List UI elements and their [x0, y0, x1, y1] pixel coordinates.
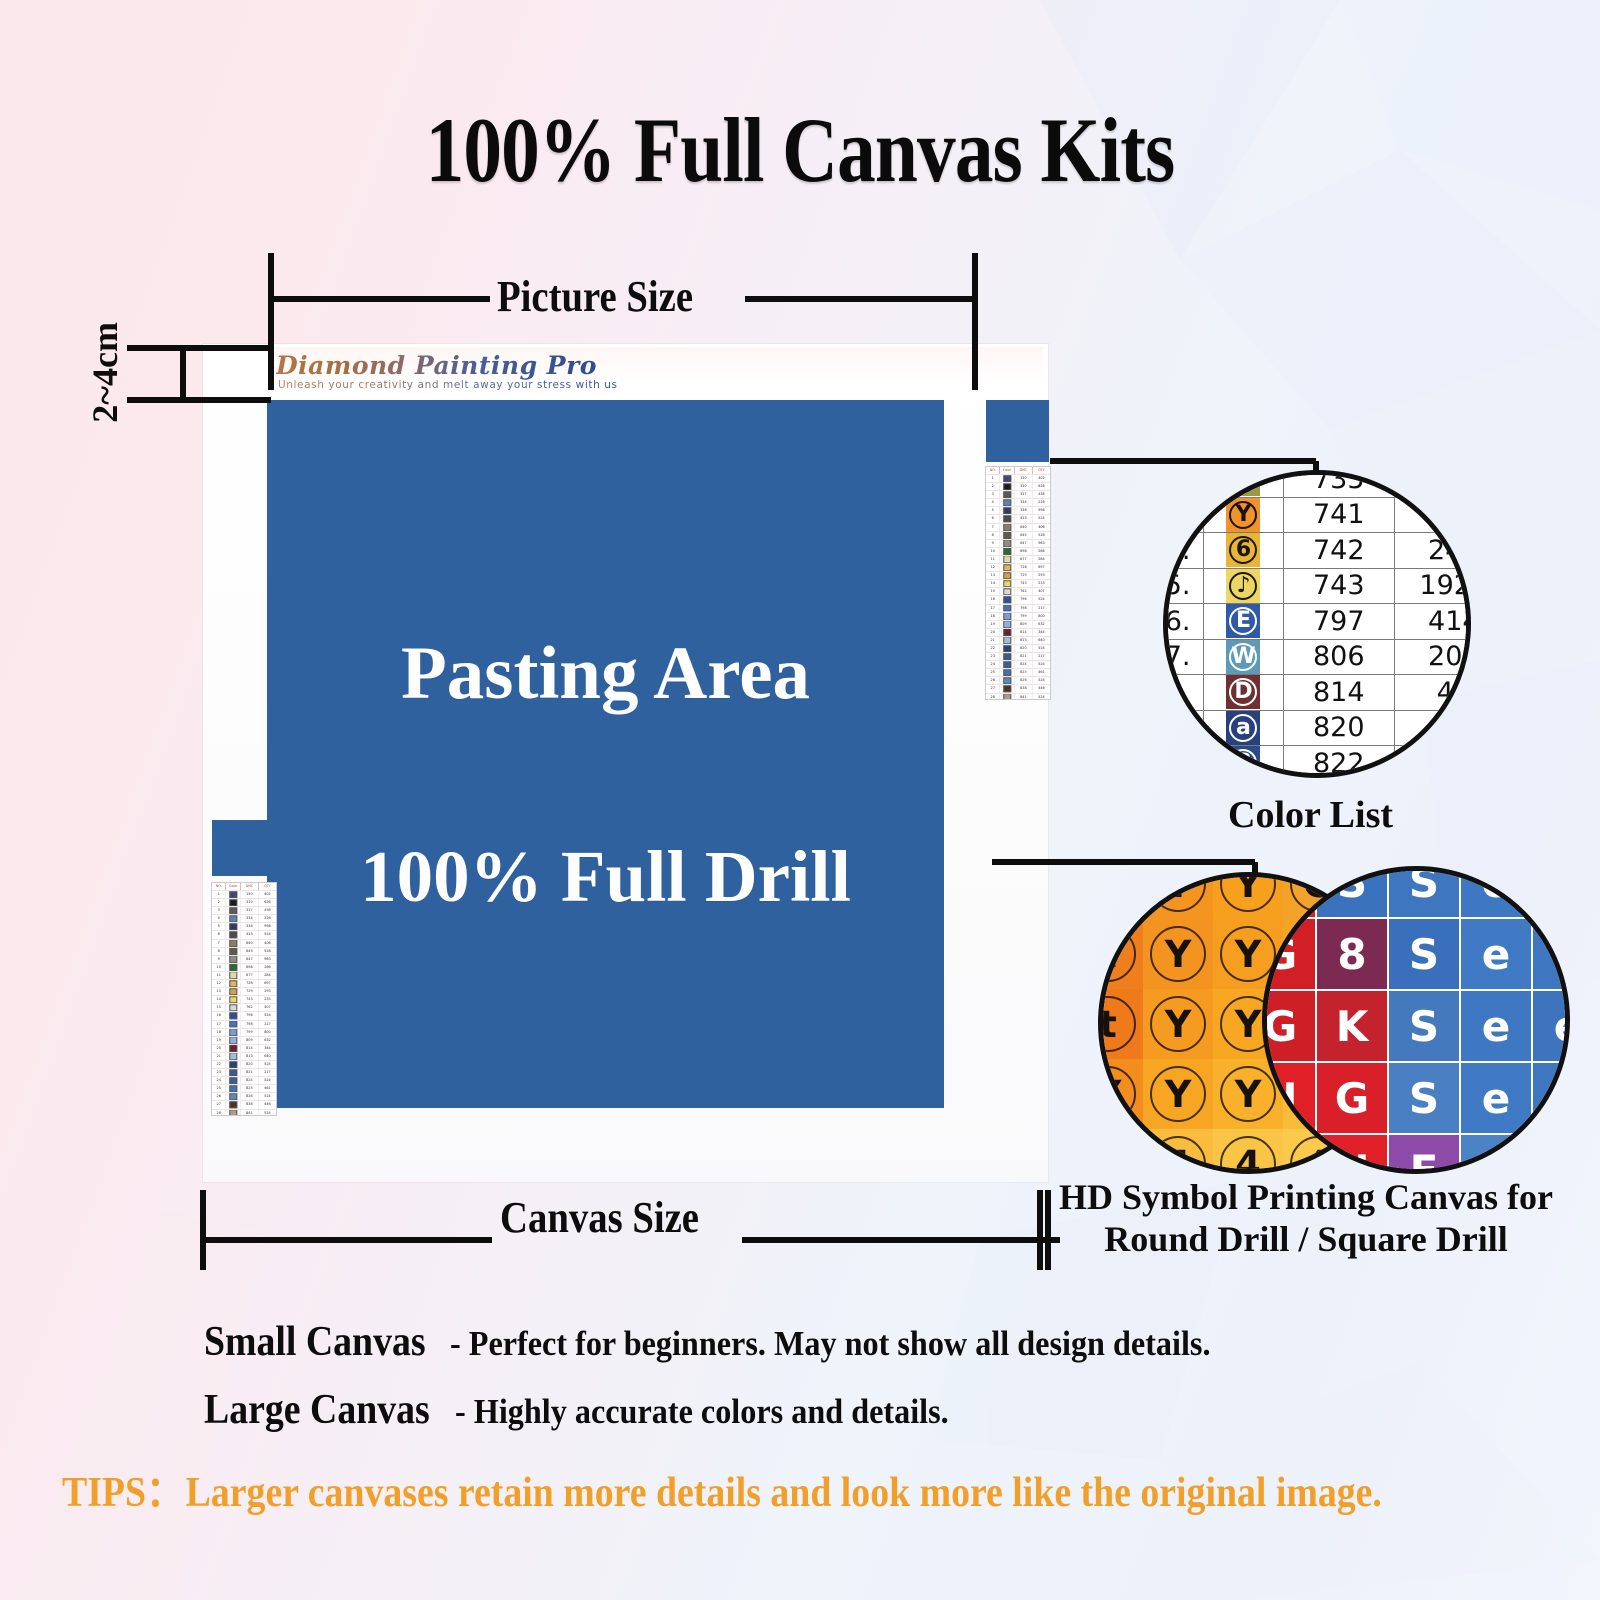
mini-strip-row: 5336998: [986, 506, 1050, 514]
color-list-qty: 414: [1394, 604, 1471, 640]
round-drill-cell: t: [1098, 919, 1143, 989]
round-drill-cell: Y: [1098, 1129, 1143, 1174]
pasting-area-title: Pasting Area: [267, 636, 944, 711]
color-list-row: 15.♪7431921: [1163, 568, 1471, 604]
square-drill-cell: S: [1389, 866, 1459, 917]
color-list-symbol: ♪: [1204, 568, 1284, 604]
mini-strip-row: 27838446: [212, 1100, 276, 1108]
tips-separator: ：: [146, 1470, 186, 1516]
mini-strip-row: 9647963: [212, 955, 276, 963]
square-drill-cell: G: [1262, 866, 1315, 917]
round-drill-cell: Y: [1098, 1059, 1143, 1129]
mini-strip-row: 10698266: [986, 547, 1050, 555]
mini-strip-row: 27838446: [986, 684, 1050, 692]
small-canvas-text: - Perfect for beginners. May not show al…: [450, 1324, 1211, 1364]
color-list-no: 14.: [1163, 533, 1204, 569]
square-drill-cell: N: [1317, 1135, 1387, 1174]
small-canvas-label: Small Canvas: [204, 1318, 426, 1366]
color-list-row: 18.D81440: [1163, 675, 1471, 711]
color-list-no: [1163, 710, 1204, 746]
round-drill-cell: Y: [1143, 989, 1213, 1059]
square-drill-cell: K: [1317, 991, 1387, 1061]
tips-label: TIPS: [62, 1470, 146, 1516]
color-list-code: 743: [1283, 568, 1394, 604]
mini-strip-row: 21813640: [212, 1052, 276, 1060]
color-list-qty: [1394, 470, 1471, 497]
drill-caption-line1: HD Symbol Printing Canvas for: [1046, 1176, 1566, 1218]
large-canvas-label: Large Canvas: [204, 1386, 430, 1434]
brand-logo-band: Diamond Painting Pro Unleash your creati…: [268, 347, 1043, 399]
color-list-code: 742: [1283, 533, 1394, 569]
color-list-code: 797: [1283, 604, 1394, 640]
color-list-qty: 1921: [1394, 568, 1471, 604]
square-drill-cell: S: [1317, 866, 1387, 917]
color-list-table: ★735.Y741114.674224815.♪743192116.E79741…: [1163, 470, 1471, 778]
page-title: 100% Full Canvas Kits: [128, 104, 1472, 196]
color-list-symbol: W: [1204, 639, 1284, 675]
square-drill-cell: S: [1389, 919, 1459, 989]
color-list-symbol: ★: [1204, 470, 1284, 497]
color-list-code: 806: [1283, 639, 1394, 675]
mini-strip-row: 3317436: [212, 906, 276, 914]
square-drill-cell: e: [1461, 866, 1531, 917]
mini-strip-row: 19809632: [212, 1036, 276, 1044]
color-list-qty: 40: [1394, 675, 1471, 711]
mini-strip-row: 7640406: [986, 523, 1050, 531]
square-drill-cell: S: [1461, 1135, 1531, 1174]
canvas-sheet: Diamond Painting Pro Unleash your creati…: [203, 344, 1048, 1182]
color-list-row: ★735: [1163, 470, 1471, 497]
color-list-magnifier: ★735.Y741114.674224815.♪743192116.E79741…: [1163, 470, 1471, 778]
mini-strip-row: 14743233: [986, 579, 1050, 587]
square-drill-cell: e: [1533, 1063, 1570, 1133]
mini-strip-row: 2310626: [212, 898, 276, 906]
mini-strip-row: 1150402: [986, 474, 1050, 482]
round-drill-cell: Y: [1143, 919, 1213, 989]
mini-strip-header: NO.ColorDMCQTY: [212, 883, 276, 890]
mini-strip-row: 1150402: [212, 890, 276, 898]
large-canvas-line: Large Canvas- Highly accurate colors and…: [204, 1386, 991, 1434]
mini-strip-row: 12728697: [212, 979, 276, 987]
color-list-code: 814: [1283, 675, 1394, 711]
large-canvas-text: - Highly accurate colors and details.: [455, 1392, 949, 1432]
mini-strip-row: 25825461: [212, 1084, 276, 1092]
color-list-row: .Y7411: [1163, 497, 1471, 533]
color-list-no: 15.: [1163, 568, 1204, 604]
mini-strip-row: 11677284: [986, 555, 1050, 563]
mini-strip-row: 28841524: [986, 693, 1050, 700]
mini-strip-row: 26826524: [986, 676, 1050, 684]
square-drill-magnifier: GSSeeG8SeeGKSeeNGSeeNNFSSNNKKK: [1262, 866, 1570, 1174]
square-drill-cell: N: [1262, 1135, 1315, 1174]
mini-strip-row: 17798217: [986, 604, 1050, 612]
mini-strip-row: 3317436: [986, 490, 1050, 498]
mini-strip-row: 18799800: [212, 1028, 276, 1036]
color-list-no: 17.: [1163, 639, 1204, 675]
color-list-row: 17.W806204: [1163, 639, 1471, 675]
color-list-symbol: Y: [1204, 497, 1284, 533]
square-drill-cell: e: [1461, 991, 1531, 1061]
round-drill-cell: 4: [1143, 1129, 1213, 1174]
color-list-symbol: 6: [1204, 533, 1284, 569]
mini-strip-row: 14743233: [212, 995, 276, 1003]
canvas-size-label: Canvas Size: [500, 1192, 699, 1243]
mini-strip-row: 23821217: [212, 1068, 276, 1076]
mini-strip-row: 16796524: [986, 595, 1050, 603]
mini-strip-row: 17798217: [212, 1020, 276, 1028]
color-list-row: a820: [1163, 710, 1471, 746]
mini-strip-row: 16796524: [212, 1011, 276, 1019]
mini-strip-row: 12728697: [986, 563, 1050, 571]
color-list-no: 16.: [1163, 604, 1204, 640]
color-list-code: 741: [1283, 497, 1394, 533]
color-list-no: .: [1163, 497, 1204, 533]
brand-logo-tagline: Unleash your creativity and melt away yo…: [278, 379, 618, 391]
square-drill-cell: 8: [1317, 919, 1387, 989]
mini-strip-row: 22820524: [212, 1060, 276, 1068]
mini-strip-row: 23821217: [986, 652, 1050, 660]
mini-strip-row: 28841524: [212, 1109, 276, 1116]
mini-strip-row: 13729293: [212, 987, 276, 995]
drill-preview-caption: HD Symbol Printing Canvas for Round Dril…: [1046, 1176, 1566, 1260]
square-drill-cell: e: [1533, 866, 1570, 917]
square-drill-cell: e: [1533, 991, 1570, 1061]
mini-strip-row: 11677284: [212, 971, 276, 979]
brand-logo-name: Diamond Painting Pro: [276, 351, 597, 380]
mini-strip-row: 6413524: [986, 514, 1050, 522]
color-list-qty: 248: [1394, 533, 1471, 569]
square-drill-cell: e: [1533, 919, 1570, 989]
color-list-row: 14.6742248: [1163, 533, 1471, 569]
mini-strip-row: 19809632: [986, 620, 1050, 628]
blue-accent-square-right: [986, 400, 1049, 462]
tips-line: TIPS：Larger canvases retain more details…: [62, 1458, 1382, 1519]
drill-caption-line2: Round Drill / Square Drill: [1046, 1218, 1566, 1260]
color-list-no: 18.: [1163, 675, 1204, 711]
mini-strip-row: 10698266: [212, 963, 276, 971]
blue-accent-square-left: [212, 820, 269, 876]
color-list-symbol: E: [1204, 604, 1284, 640]
mini-strip-row: 24824524: [986, 660, 1050, 668]
mini-strip-row: 13729293: [986, 571, 1050, 579]
mini-strip-row: 21813640: [986, 636, 1050, 644]
color-list-qty: [1394, 710, 1471, 746]
mini-strip-row: 22820524: [986, 644, 1050, 652]
mini-strip-row: 4334226: [212, 914, 276, 922]
mini-strip-row: 8645528: [212, 947, 276, 955]
color-list-symbol: D: [1204, 675, 1284, 711]
mini-strip-header: NO.ColorDMCQTY: [986, 467, 1050, 474]
round-drill-cell: Y: [1143, 872, 1213, 919]
mini-strip-row: 4334226: [986, 498, 1050, 506]
mini-strip-row: 5336998: [212, 922, 276, 930]
square-drill-cell: G: [1317, 1063, 1387, 1133]
tips-text: Larger canvases retain more details and …: [186, 1470, 1382, 1516]
mini-strip-row: 7640406: [212, 939, 276, 947]
mini-strip-row: 8645528: [986, 531, 1050, 539]
round-drill-cell: Y: [1098, 872, 1143, 919]
square-drill-cell: S: [1389, 991, 1459, 1061]
color-list-qty: 204: [1394, 639, 1471, 675]
pasting-area-block: Pasting Area 100% Full Drill: [267, 400, 944, 1108]
square-drill-cell: e: [1461, 919, 1531, 989]
square-drill-cell: G: [1262, 919, 1315, 989]
mini-strip-row: 9647963: [986, 539, 1050, 547]
color-list-caption: Color List: [1228, 793, 1393, 837]
round-drill-cell: Y: [1143, 1059, 1213, 1129]
margin-measure-label: 2~4cm: [84, 322, 126, 423]
small-canvas-line: Small Canvas- Perfect for beginners. May…: [204, 1318, 1277, 1366]
mini-strip-row: 24824524: [212, 1076, 276, 1084]
square-drill-cell: N: [1262, 1063, 1315, 1133]
square-drill-cell: G: [1262, 991, 1315, 1061]
full-drill-label: 100% Full Drill: [267, 840, 944, 913]
square-drill-grid: GSSeeG8SeeGKSeeNGSeeNNFSSNNKKK: [1262, 866, 1570, 1174]
mini-strip-row: 2310626: [986, 482, 1050, 490]
square-drill-cell: F: [1389, 1135, 1459, 1174]
mini-strip-row: 6413524: [212, 930, 276, 938]
color-list-symbol: a: [1204, 710, 1284, 746]
mini-strip-row: 20814344: [986, 628, 1050, 636]
color-code-strip-right: NO.ColorDMCQTY11504022310626331743643342…: [985, 466, 1051, 700]
square-drill-cell: S: [1533, 1135, 1570, 1174]
color-list-code: 735: [1283, 470, 1394, 497]
color-list-row: 16.E797414: [1163, 604, 1471, 640]
color-code-strip-left: NO.ColorDMCQTY11504022310626331743643342…: [211, 882, 277, 1116]
mini-strip-row: 20814344: [212, 1044, 276, 1052]
round-drill-cell: t: [1098, 989, 1143, 1059]
mini-strip-row: 25825461: [986, 668, 1050, 676]
mini-strip-row: 15762407: [212, 1003, 276, 1011]
color-list-no: [1163, 470, 1204, 497]
mini-strip-row: 15762407: [986, 587, 1050, 595]
mini-strip-row: 18799800: [986, 612, 1050, 620]
color-list-qty: 1: [1394, 497, 1471, 533]
color-list-code: 820: [1283, 710, 1394, 746]
square-drill-cell: e: [1461, 1063, 1531, 1133]
picture-size-label: Picture Size: [497, 271, 693, 322]
square-drill-cell: S: [1389, 1063, 1459, 1133]
mini-strip-row: 26826524: [212, 1092, 276, 1100]
